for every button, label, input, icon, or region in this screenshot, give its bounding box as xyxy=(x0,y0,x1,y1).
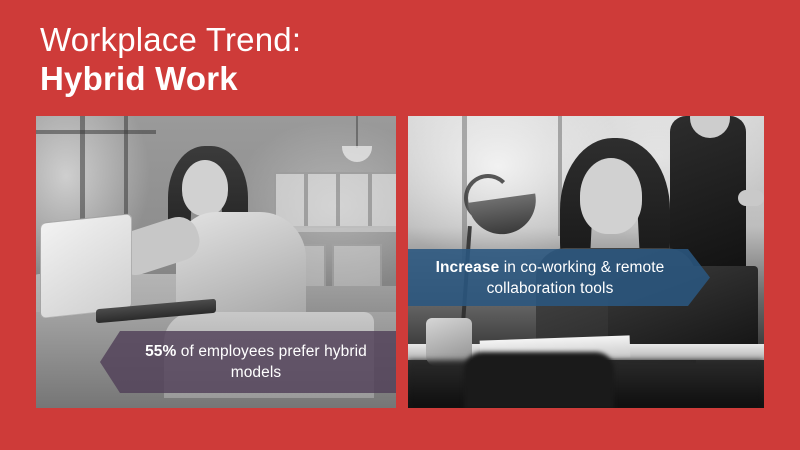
caption-text-left: 55% of employees prefer hybrid models xyxy=(130,341,382,383)
slide-title-block: Workplace Trend: Hybrid Work xyxy=(40,20,560,99)
caption-lead-left: 55% xyxy=(145,343,176,360)
caption-lead-right: Increase xyxy=(436,259,500,276)
caption-rest-right: in co-working & remote collaboration too… xyxy=(487,259,665,297)
caption-text-right: Increase in co-working & remote collabor… xyxy=(420,257,680,299)
slide-canvas: Workplace Trend: Hybrid Work xyxy=(0,0,800,450)
page-title-line-2: Hybrid Work xyxy=(40,59,560,99)
caption-banner-left: 55% of employees prefer hybrid models xyxy=(100,331,396,393)
caption-rest-left: of employees prefer hybrid models xyxy=(176,343,367,381)
caption-banner-right: Increase in co-working & remote collabor… xyxy=(408,249,710,306)
page-title-line-1: Workplace Trend: xyxy=(40,20,560,59)
